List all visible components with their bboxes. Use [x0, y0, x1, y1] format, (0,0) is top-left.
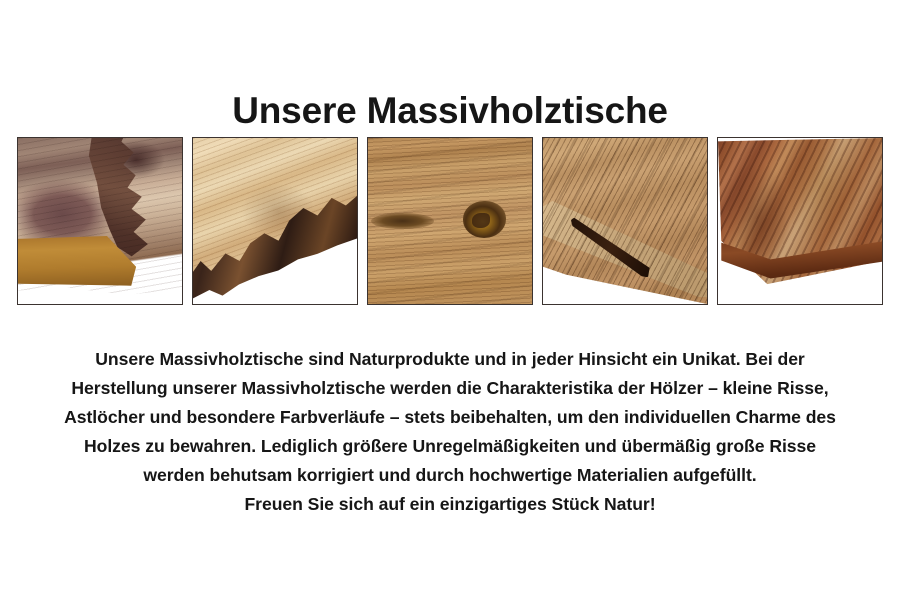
wood-grain-texture: [718, 138, 882, 304]
gallery-photo-1: [17, 137, 183, 305]
description-line-1: Unsere Massivholztische sind Naturproduk…: [24, 345, 876, 374]
gallery-photo-5: [717, 137, 883, 305]
description-paragraph: Unsere Massivholztische sind Naturproduk…: [24, 345, 876, 519]
description-line-6: Freuen Sie sich auf ein einzigartiges St…: [24, 490, 876, 519]
wood-photo-grain-knots: [368, 138, 532, 304]
wood-photo-rough-sawn-crack: [543, 138, 707, 304]
wood-knot: [463, 201, 506, 238]
gallery-photo-2: [192, 137, 358, 305]
wood-knot: [371, 213, 433, 230]
wood-photo-rosewood-live-edge: [18, 138, 182, 304]
wood-photo-sheesham-corner: [718, 138, 882, 304]
description-line-5: werden behutsam korrigiert und durch hoc…: [24, 461, 876, 490]
photo-gallery: [17, 137, 883, 305]
description-line-4: Holzes zu bewahren. Lediglich größere Un…: [24, 432, 876, 461]
wood-grain-texture: [18, 138, 182, 304]
gallery-photo-3: [367, 137, 533, 305]
wood-photo-acacia-live-edge: [193, 138, 357, 304]
description-line-3: Astlöcher und besondere Farbverläufe – s…: [24, 403, 876, 432]
product-info-page: Unsere Massivholztische: [0, 0, 900, 600]
description-line-2: Herstellung unserer Massivholztische wer…: [24, 374, 876, 403]
gallery-photo-4: [542, 137, 708, 305]
page-title: Unsere Massivholztische: [0, 91, 900, 132]
